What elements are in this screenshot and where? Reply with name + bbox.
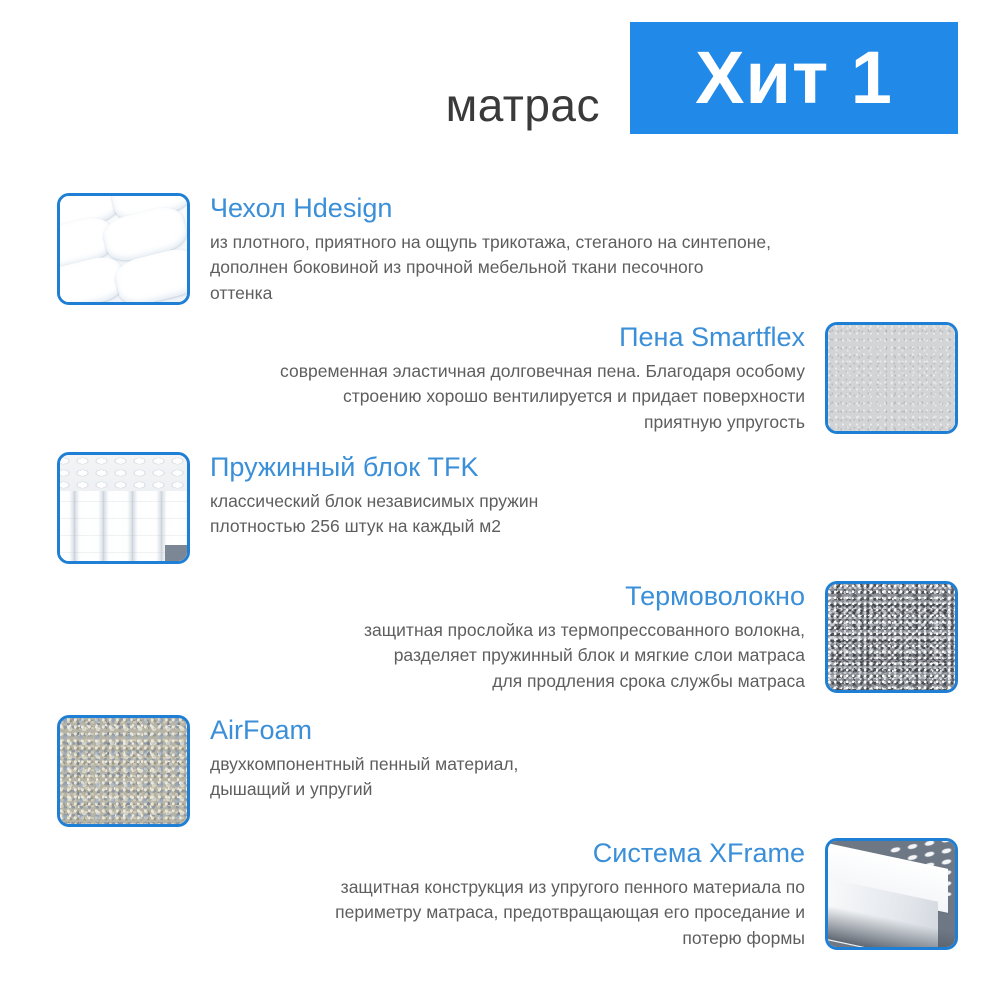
page-header: матрас Хит 1 bbox=[0, 0, 1000, 170]
page-title: матрас bbox=[300, 82, 600, 128]
thermo-fiber-thumbnail bbox=[825, 581, 958, 693]
airfoam-thumbnail bbox=[57, 715, 190, 827]
feature-title: Система XFrame bbox=[60, 838, 805, 870]
feature-description: классический блок независимых пружин пло… bbox=[210, 489, 960, 540]
feature-description: современная эластичная долговечная пена.… bbox=[60, 359, 805, 435]
feature-block-airfoam: AirFoam двухкомпонентный пенный материал… bbox=[0, 715, 1000, 827]
feature-text-thermofiber: Термоволокно защитная прослойка из термо… bbox=[0, 581, 805, 694]
smartflex-foam-art bbox=[828, 325, 955, 431]
xframe-art bbox=[828, 841, 955, 947]
quilted-cover-thumbnail bbox=[57, 193, 190, 305]
thermo-fiber-art bbox=[828, 584, 955, 690]
xframe-thumbnail bbox=[825, 838, 958, 950]
feature-title: Пена Smartflex bbox=[60, 322, 805, 354]
hit-badge-label: Хит 1 bbox=[695, 41, 893, 115]
feature-block-cover: Чехол Hdesign из плотного, приятного на … bbox=[0, 193, 1000, 306]
feature-text-smartflex: Пена Smartflex современная эластичная до… bbox=[0, 322, 805, 435]
feature-block-xframe: Система XFrame защитная конструкция из у… bbox=[0, 838, 1000, 951]
airfoam-art bbox=[60, 718, 187, 824]
feature-title: Чехол Hdesign bbox=[210, 193, 960, 225]
feature-description: из плотного, приятного на ощупь трикотаж… bbox=[210, 230, 960, 306]
feature-description: двухкомпонентный пенный материал, дышащи… bbox=[210, 752, 960, 803]
feature-text-airfoam: AirFoam двухкомпонентный пенный материал… bbox=[210, 715, 1000, 803]
smartflex-foam-thumbnail bbox=[825, 322, 958, 434]
feature-block-thermofiber: Термоволокно защитная прослойка из термо… bbox=[0, 581, 1000, 694]
feature-block-tfk: Пружинный блок TFK классический блок нез… bbox=[0, 452, 1000, 564]
spring-block-art bbox=[60, 455, 187, 561]
feature-title: Термоволокно bbox=[60, 581, 805, 613]
tfk-spring-block-thumbnail bbox=[57, 452, 190, 564]
feature-text-xframe: Система XFrame защитная конструкция из у… bbox=[0, 838, 805, 951]
feature-title: AirFoam bbox=[210, 715, 960, 747]
feature-description: защитная прослойка из термопрессованного… bbox=[60, 618, 805, 694]
feature-title: Пружинный блок TFK bbox=[210, 452, 960, 484]
hit-badge: Хит 1 bbox=[630, 22, 958, 134]
feature-block-smartflex: Пена Smartflex современная эластичная до… bbox=[0, 322, 1000, 435]
quilted-fabric-art bbox=[60, 196, 187, 302]
spring-corner-shadow bbox=[165, 545, 187, 561]
feature-text-tfk: Пружинный блок TFK классический блок нез… bbox=[210, 452, 1000, 540]
feature-description: защитная конструкция из упругого пенного… bbox=[60, 875, 805, 951]
feature-text-cover: Чехол Hdesign из плотного, приятного на … bbox=[210, 193, 1000, 306]
